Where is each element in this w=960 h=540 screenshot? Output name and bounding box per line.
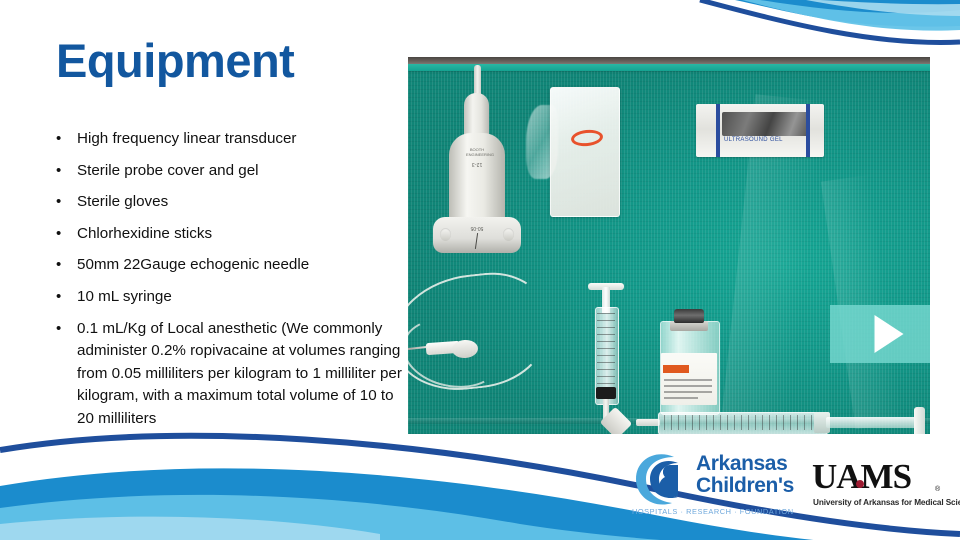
vial-label-line [664, 385, 712, 387]
logo-line-1: Arkansas [696, 453, 794, 475]
vial-label-line [664, 397, 698, 399]
wave-top-light [742, 0, 960, 31]
uams-logo: UAMS ® University of Arkansas for Medica… [812, 458, 952, 514]
list-item-label: 0.1 mL/Kg of Local anesthetic (We common… [77, 318, 406, 431]
list-item: • Sterile gloves [46, 191, 406, 214]
transducer-body-text: BOOTH ENGINEERING [466, 147, 488, 157]
syringe-graduations [597, 313, 615, 385]
equipment-bullet-list: • High frequency linear transducer • Ste… [46, 128, 406, 431]
logo-line-2: Children's [696, 475, 794, 497]
uams-registered-mark: ® [935, 486, 940, 493]
list-item-label: Chlorhexidine sticks [77, 223, 406, 246]
bullet-marker-icon: • [46, 318, 77, 341]
list-item-label: 10 mL syringe [77, 286, 406, 309]
arkansas-childrens-tagline: HOSPITALS · RESEARCH · FOUNDATION [632, 507, 794, 516]
bullet-marker-icon: • [46, 254, 77, 277]
list-item: • 0.1 mL/Kg of Local anesthetic (We comm… [46, 318, 406, 431]
transducer-footprint-text: 50-05 [458, 225, 496, 231]
bullet-marker-icon: • [46, 191, 77, 214]
wave-bottom-pale [0, 517, 380, 540]
vial-label-line [664, 379, 712, 381]
bullet-marker-icon: • [46, 223, 77, 246]
drape-hem-top [408, 64, 930, 71]
syringe-flange [914, 407, 925, 434]
wave-top-pale [806, 0, 960, 16]
list-item: • Chlorhexidine sticks [46, 223, 406, 246]
list-item-label: High frequency linear transducer [77, 128, 406, 151]
bullet-marker-icon: • [46, 286, 77, 309]
uams-accent-dot-icon [856, 480, 864, 488]
gel-packet-artwork [722, 112, 808, 136]
syringe-plunger [826, 417, 922, 428]
list-item: • Sterile probe cover and gel [46, 160, 406, 183]
uams-wordmark: UAMS [812, 458, 911, 496]
ultrasound-gel-packet: ULTRASOUND GEL [696, 104, 824, 157]
page-title: Equipment [56, 36, 294, 85]
equipment-photo[interactable]: BOOTH ENGINEERING 12-3 50-05 ULTRASOUND … [408, 57, 930, 434]
list-item: • 10 mL syringe [46, 286, 406, 309]
bullet-marker-icon: • [46, 128, 77, 151]
video-play-button[interactable] [830, 305, 930, 363]
vial-label-line [664, 391, 712, 393]
transducer-model-text: 12-3 [460, 161, 494, 167]
syringe-graduations [664, 415, 814, 430]
arkansas-childrens-mark-icon [630, 451, 692, 507]
vial-label-accent [663, 365, 689, 373]
wave-top-blue [735, 0, 960, 27]
vial-cap [674, 309, 704, 323]
slide: Equipment • High frequency linear transd… [0, 0, 960, 540]
play-icon [874, 315, 903, 353]
bullet-marker-icon: • [46, 160, 77, 183]
syringe-tip [636, 419, 660, 426]
list-item-label: Sterile probe cover and gel [77, 160, 406, 183]
gel-packet-stripe [806, 104, 810, 157]
vial-label [661, 353, 717, 405]
sterile-probe-cover [550, 87, 620, 217]
wave-top-navy-stroke [700, 0, 960, 42]
syringe-stopper [596, 387, 616, 399]
arkansas-childrens-logo: Arkansas Children's HOSPITALS · RESEARCH… [630, 449, 796, 517]
list-item: • High frequency linear transducer [46, 128, 406, 151]
gel-packet-stripe [716, 104, 720, 157]
list-item-label: 50mm 22Gauge echogenic needle [77, 254, 406, 277]
list-item-label: Sterile gloves [77, 191, 406, 214]
uams-subtitle: University of Arkansas for Medical Scien… [813, 498, 960, 507]
arkansas-childrens-wordmark: Arkansas Children's [696, 453, 794, 497]
list-item: • 50mm 22Gauge echogenic needle [46, 254, 406, 277]
gel-packet-label: ULTRASOUND GEL [724, 137, 783, 143]
